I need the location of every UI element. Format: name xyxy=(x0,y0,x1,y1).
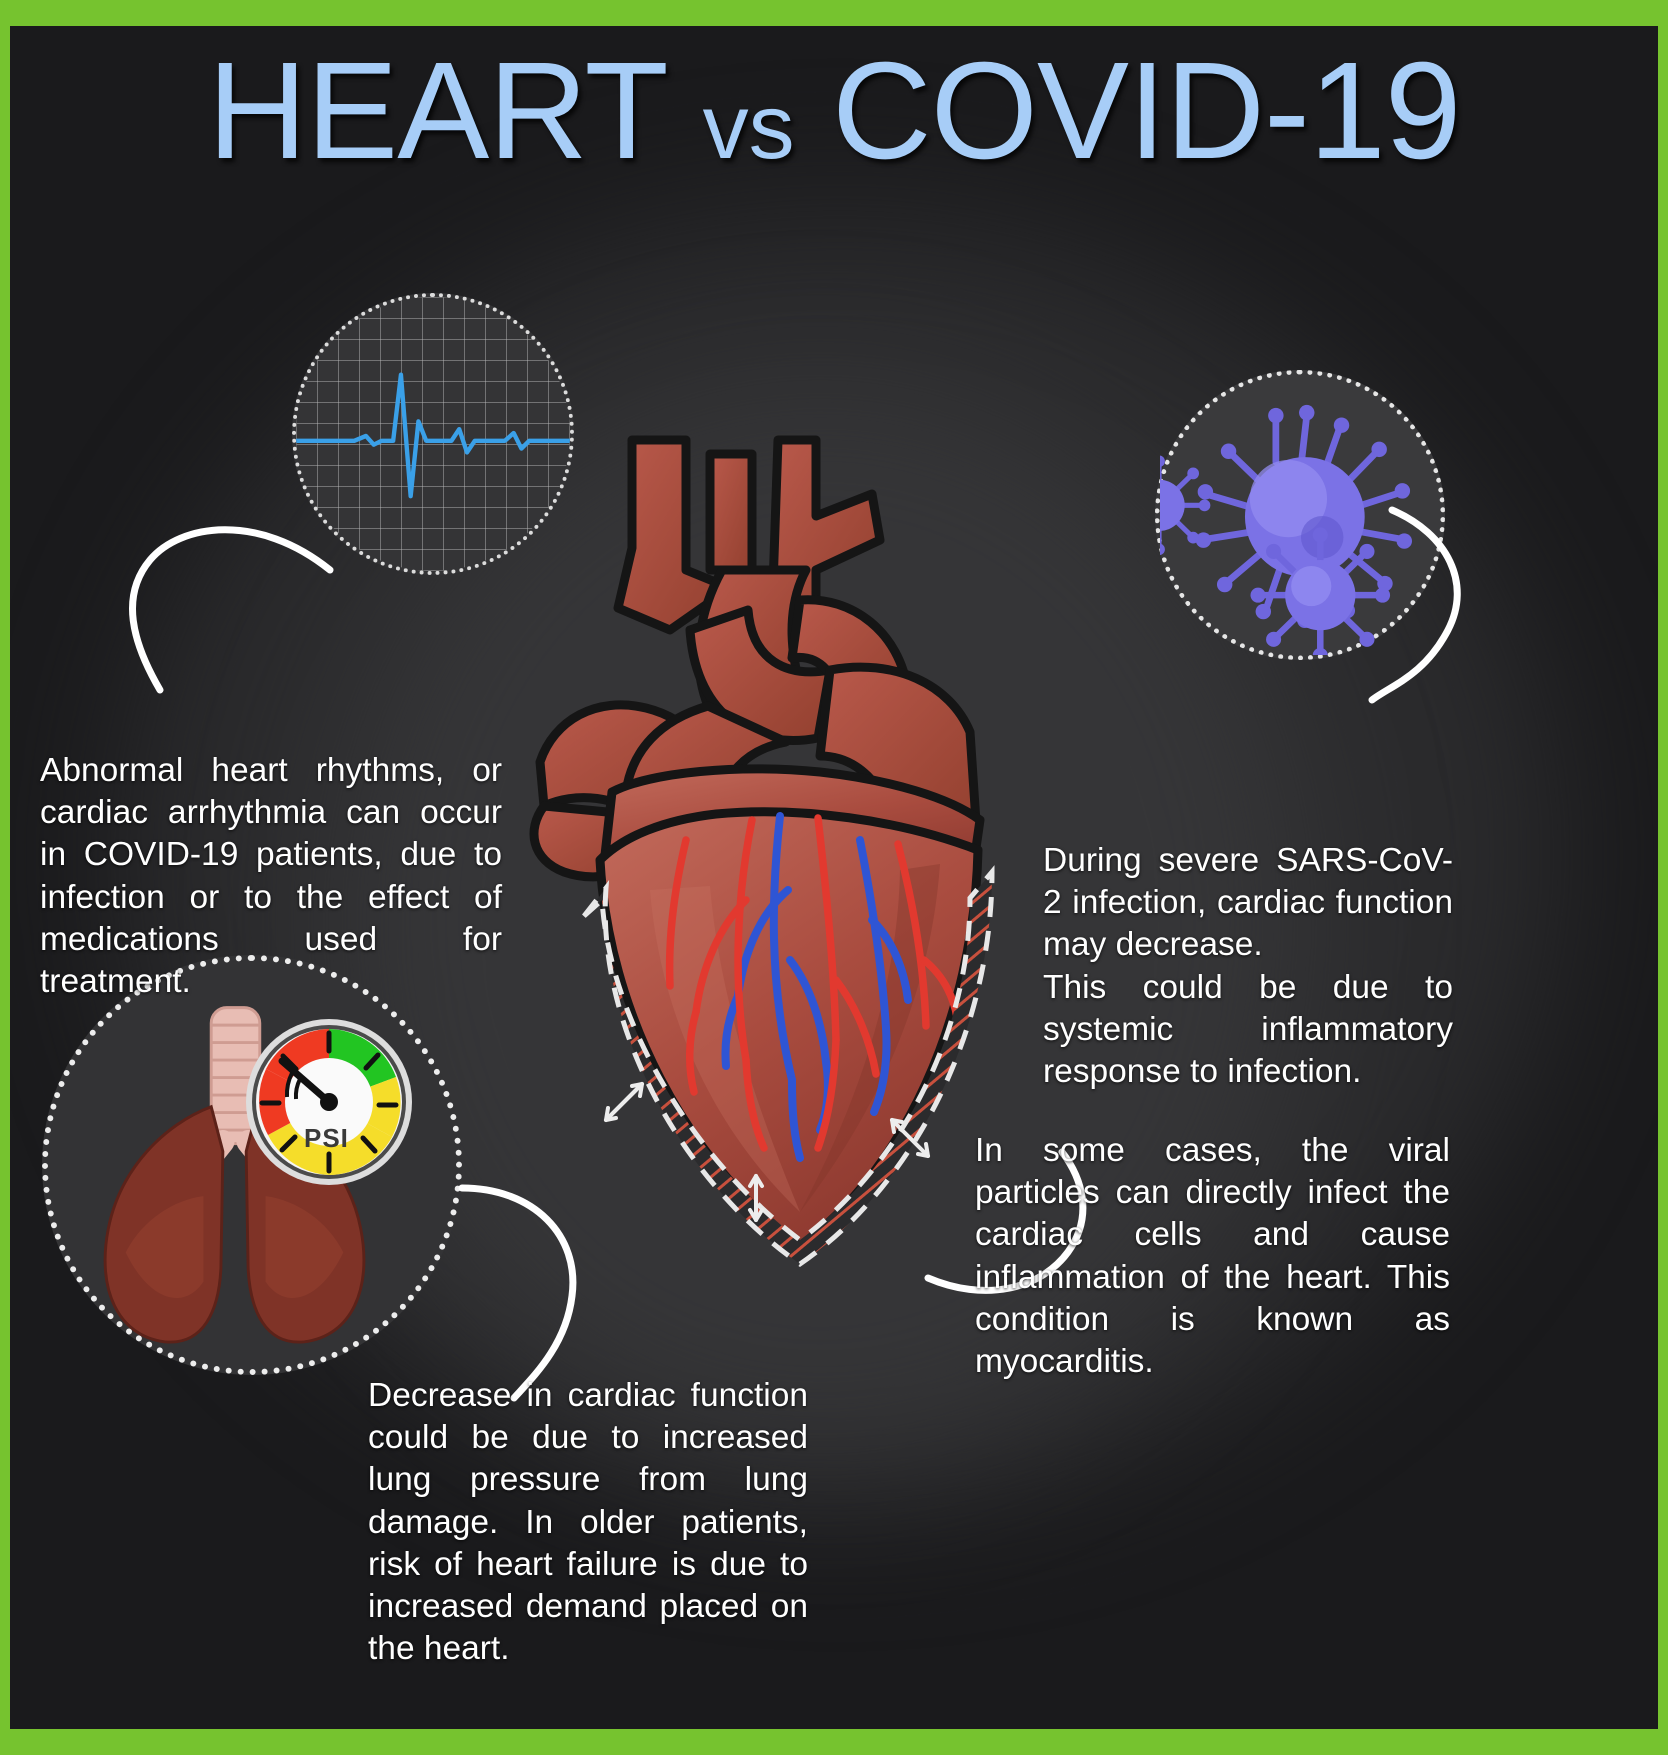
callout-sars-text-1: During severe SARS-CoV-2 infection, card… xyxy=(1043,840,1453,967)
callout-myocarditis-text: In some cases, the viral particles can d… xyxy=(975,1130,1450,1383)
callout-myocarditis: In some cases, the viral particles can d… xyxy=(975,1130,1450,1383)
callout-arrhythmia: Abnormal heart rhythms, or cardiac arrhy… xyxy=(40,750,502,1003)
callout-sars-text-2: This could be due to systemic inflammato… xyxy=(1043,967,1453,1094)
title-vs: vs xyxy=(703,76,795,178)
gauge-psi-label: PSI xyxy=(304,1123,349,1154)
callout-sars: During severe SARS-CoV-2 infection, card… xyxy=(1043,840,1453,1093)
callout-lung-pressure-text: Decrease in cardiac function could be du… xyxy=(368,1375,808,1670)
left-accent-bar xyxy=(0,0,10,1755)
page-title: HEART vs COVID-19 xyxy=(0,42,1668,180)
top-accent-bar xyxy=(0,0,1668,26)
bottom-accent-bar xyxy=(0,1729,1668,1755)
callout-lung-pressure: Decrease in cardiac function could be du… xyxy=(368,1375,808,1670)
callout-arrhythmia-text: Abnormal heart rhythms, or cardiac arrhy… xyxy=(40,750,502,1003)
infographic-poster: HEART vs COVID-19 xyxy=(0,0,1668,1755)
title-covid: COVID-19 xyxy=(832,34,1461,188)
sars-cov-2-icon xyxy=(1160,375,1440,655)
lungs-gauge-bubble: PSI xyxy=(42,955,462,1375)
title-heart: HEART xyxy=(208,34,666,188)
pressure-gauge-icon: PSI xyxy=(244,1017,414,1187)
virus-bubble xyxy=(1155,370,1445,660)
right-accent-bar xyxy=(1658,0,1668,1755)
